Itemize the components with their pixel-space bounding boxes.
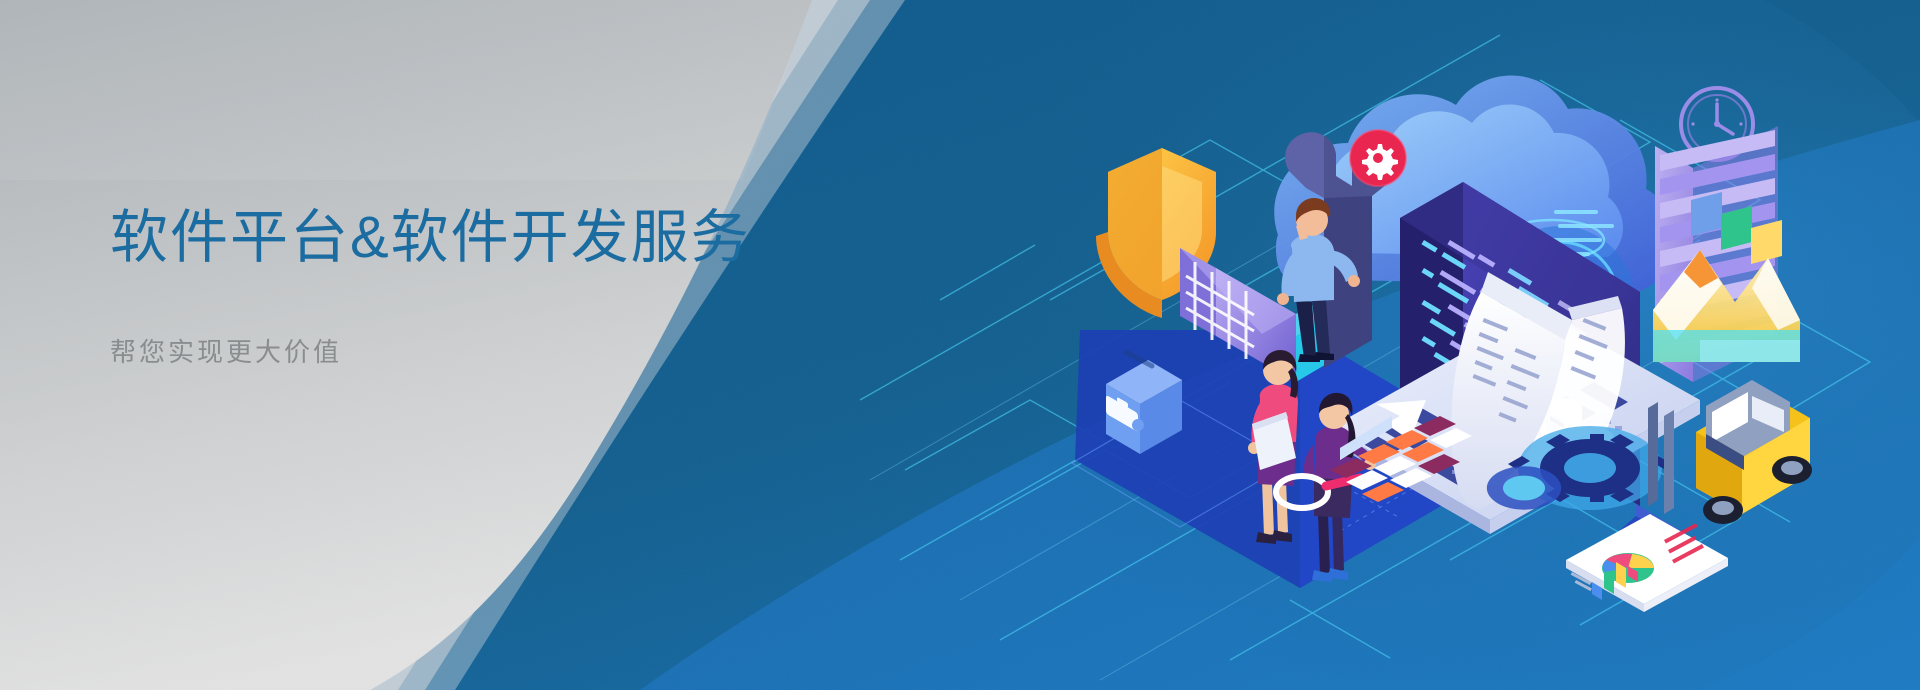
- hero-banner: 软件平台&软件开发服务 帮您实现更大价值: [0, 0, 1920, 690]
- report-card: [1566, 514, 1728, 612]
- gear-badge-icon: [1350, 130, 1406, 186]
- banner-text-block: 软件平台&软件开发服务 帮您实现更大价值: [110, 205, 870, 369]
- page-subtitle: 帮您实现更大价值: [110, 332, 870, 369]
- page-title: 软件平台&软件开发服务: [110, 205, 870, 272]
